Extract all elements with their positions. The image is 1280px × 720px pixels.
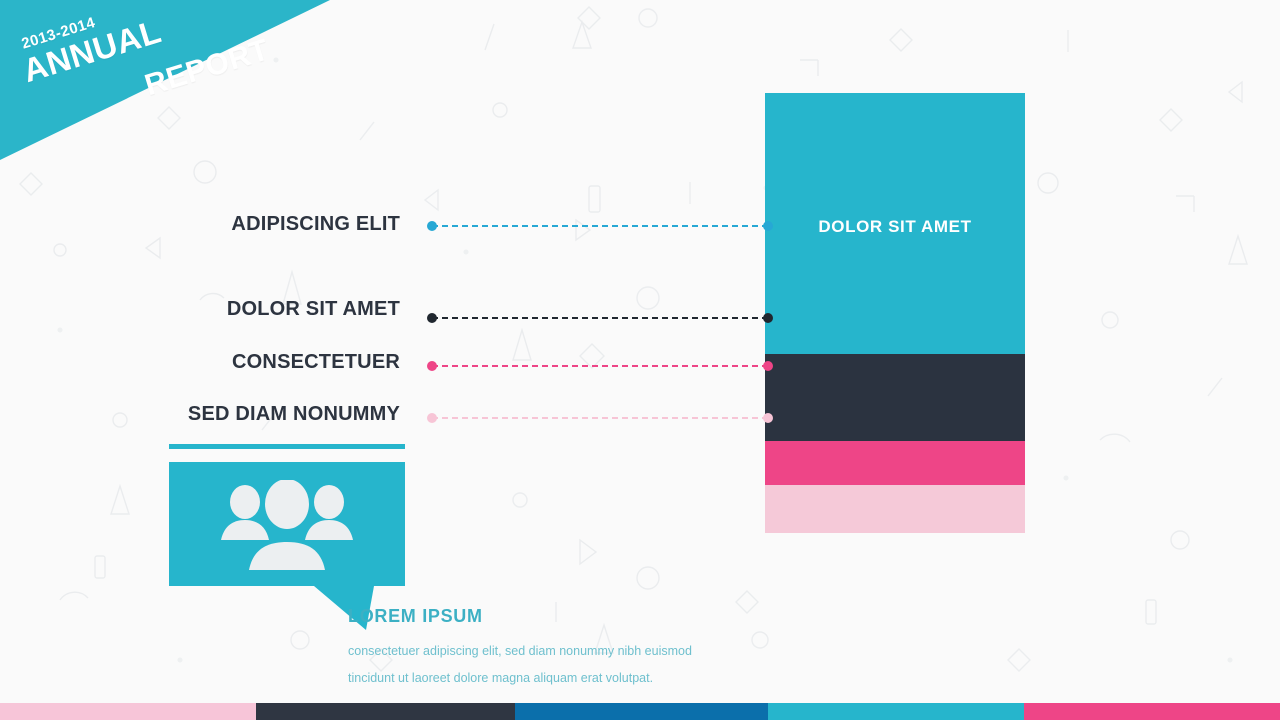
connector-dot-start	[427, 361, 437, 371]
banner-title-report: REPORT	[141, 33, 273, 103]
connector-dot-end	[763, 413, 773, 423]
banner-year: 2013-2014	[20, 14, 98, 53]
connector-consectetuer	[432, 365, 768, 367]
card-top-accent-bar	[169, 444, 405, 449]
strip-block-dark	[256, 703, 515, 720]
bar-segment-sed-diam-nonummy[interactable]	[765, 485, 1025, 533]
card-body	[169, 462, 405, 586]
series-label-sed-diam-nonummy: SED DIAM NONUMMY	[188, 403, 400, 426]
connector-dot-start	[427, 413, 437, 423]
people-info-card	[169, 444, 405, 614]
banner-shape	[0, 0, 560, 300]
series-label-adipiscing-elit: ADIPISCING ELIT	[231, 213, 400, 236]
strip-block-blue	[515, 703, 768, 720]
connector-line	[432, 365, 768, 367]
lorem-text-block: LOREM IPSUM consectetuer adipiscing elit…	[348, 606, 818, 692]
connector-dot-end	[763, 361, 773, 371]
bottom-color-strip	[0, 703, 1280, 720]
connector-line	[432, 225, 768, 227]
strip-block-pink	[1024, 703, 1280, 720]
lorem-body-line-2: tincidunt ut laoreet dolore magna aliqua…	[348, 665, 818, 692]
bar-segment-consectetuer[interactable]	[765, 441, 1025, 485]
connector-line	[432, 317, 768, 319]
bar-segment-label: DOLOR SIT AMET	[765, 217, 1025, 237]
bar-segment-dolor-sit-amet[interactable]	[765, 354, 1025, 441]
lorem-heading: LOREM IPSUM	[348, 606, 818, 627]
series-label-consectetuer: CONSECTETUER	[232, 351, 400, 374]
connector-dolor-sit-amet	[432, 317, 768, 319]
series-label-dolor-sit-amet: DOLOR SIT AMET	[227, 298, 400, 321]
strip-block-teal	[768, 703, 1024, 720]
annual-report-banner: 2013-2014 ANNUAL REPORT	[0, 0, 560, 300]
connector-sed-diam-nonummy	[432, 417, 768, 419]
connector-dot-start	[427, 221, 437, 231]
strip-block-light-pink	[0, 703, 256, 720]
banner-title-annual: ANNUAL	[18, 12, 165, 90]
lorem-body-line-1: consectetuer adipiscing elit, sed diam n…	[348, 638, 818, 665]
people-group-icon	[219, 480, 355, 572]
connector-dot-end	[763, 313, 773, 323]
bar-segment-adipiscing-elit[interactable]: DOLOR SIT AMET	[765, 93, 1025, 354]
connector-adipiscing-elit	[432, 225, 768, 227]
stacked-bar-chart: DOLOR SIT AMET	[765, 93, 1025, 533]
connector-line	[432, 417, 768, 419]
connector-dot-start	[427, 313, 437, 323]
connector-dot-end	[763, 221, 773, 231]
